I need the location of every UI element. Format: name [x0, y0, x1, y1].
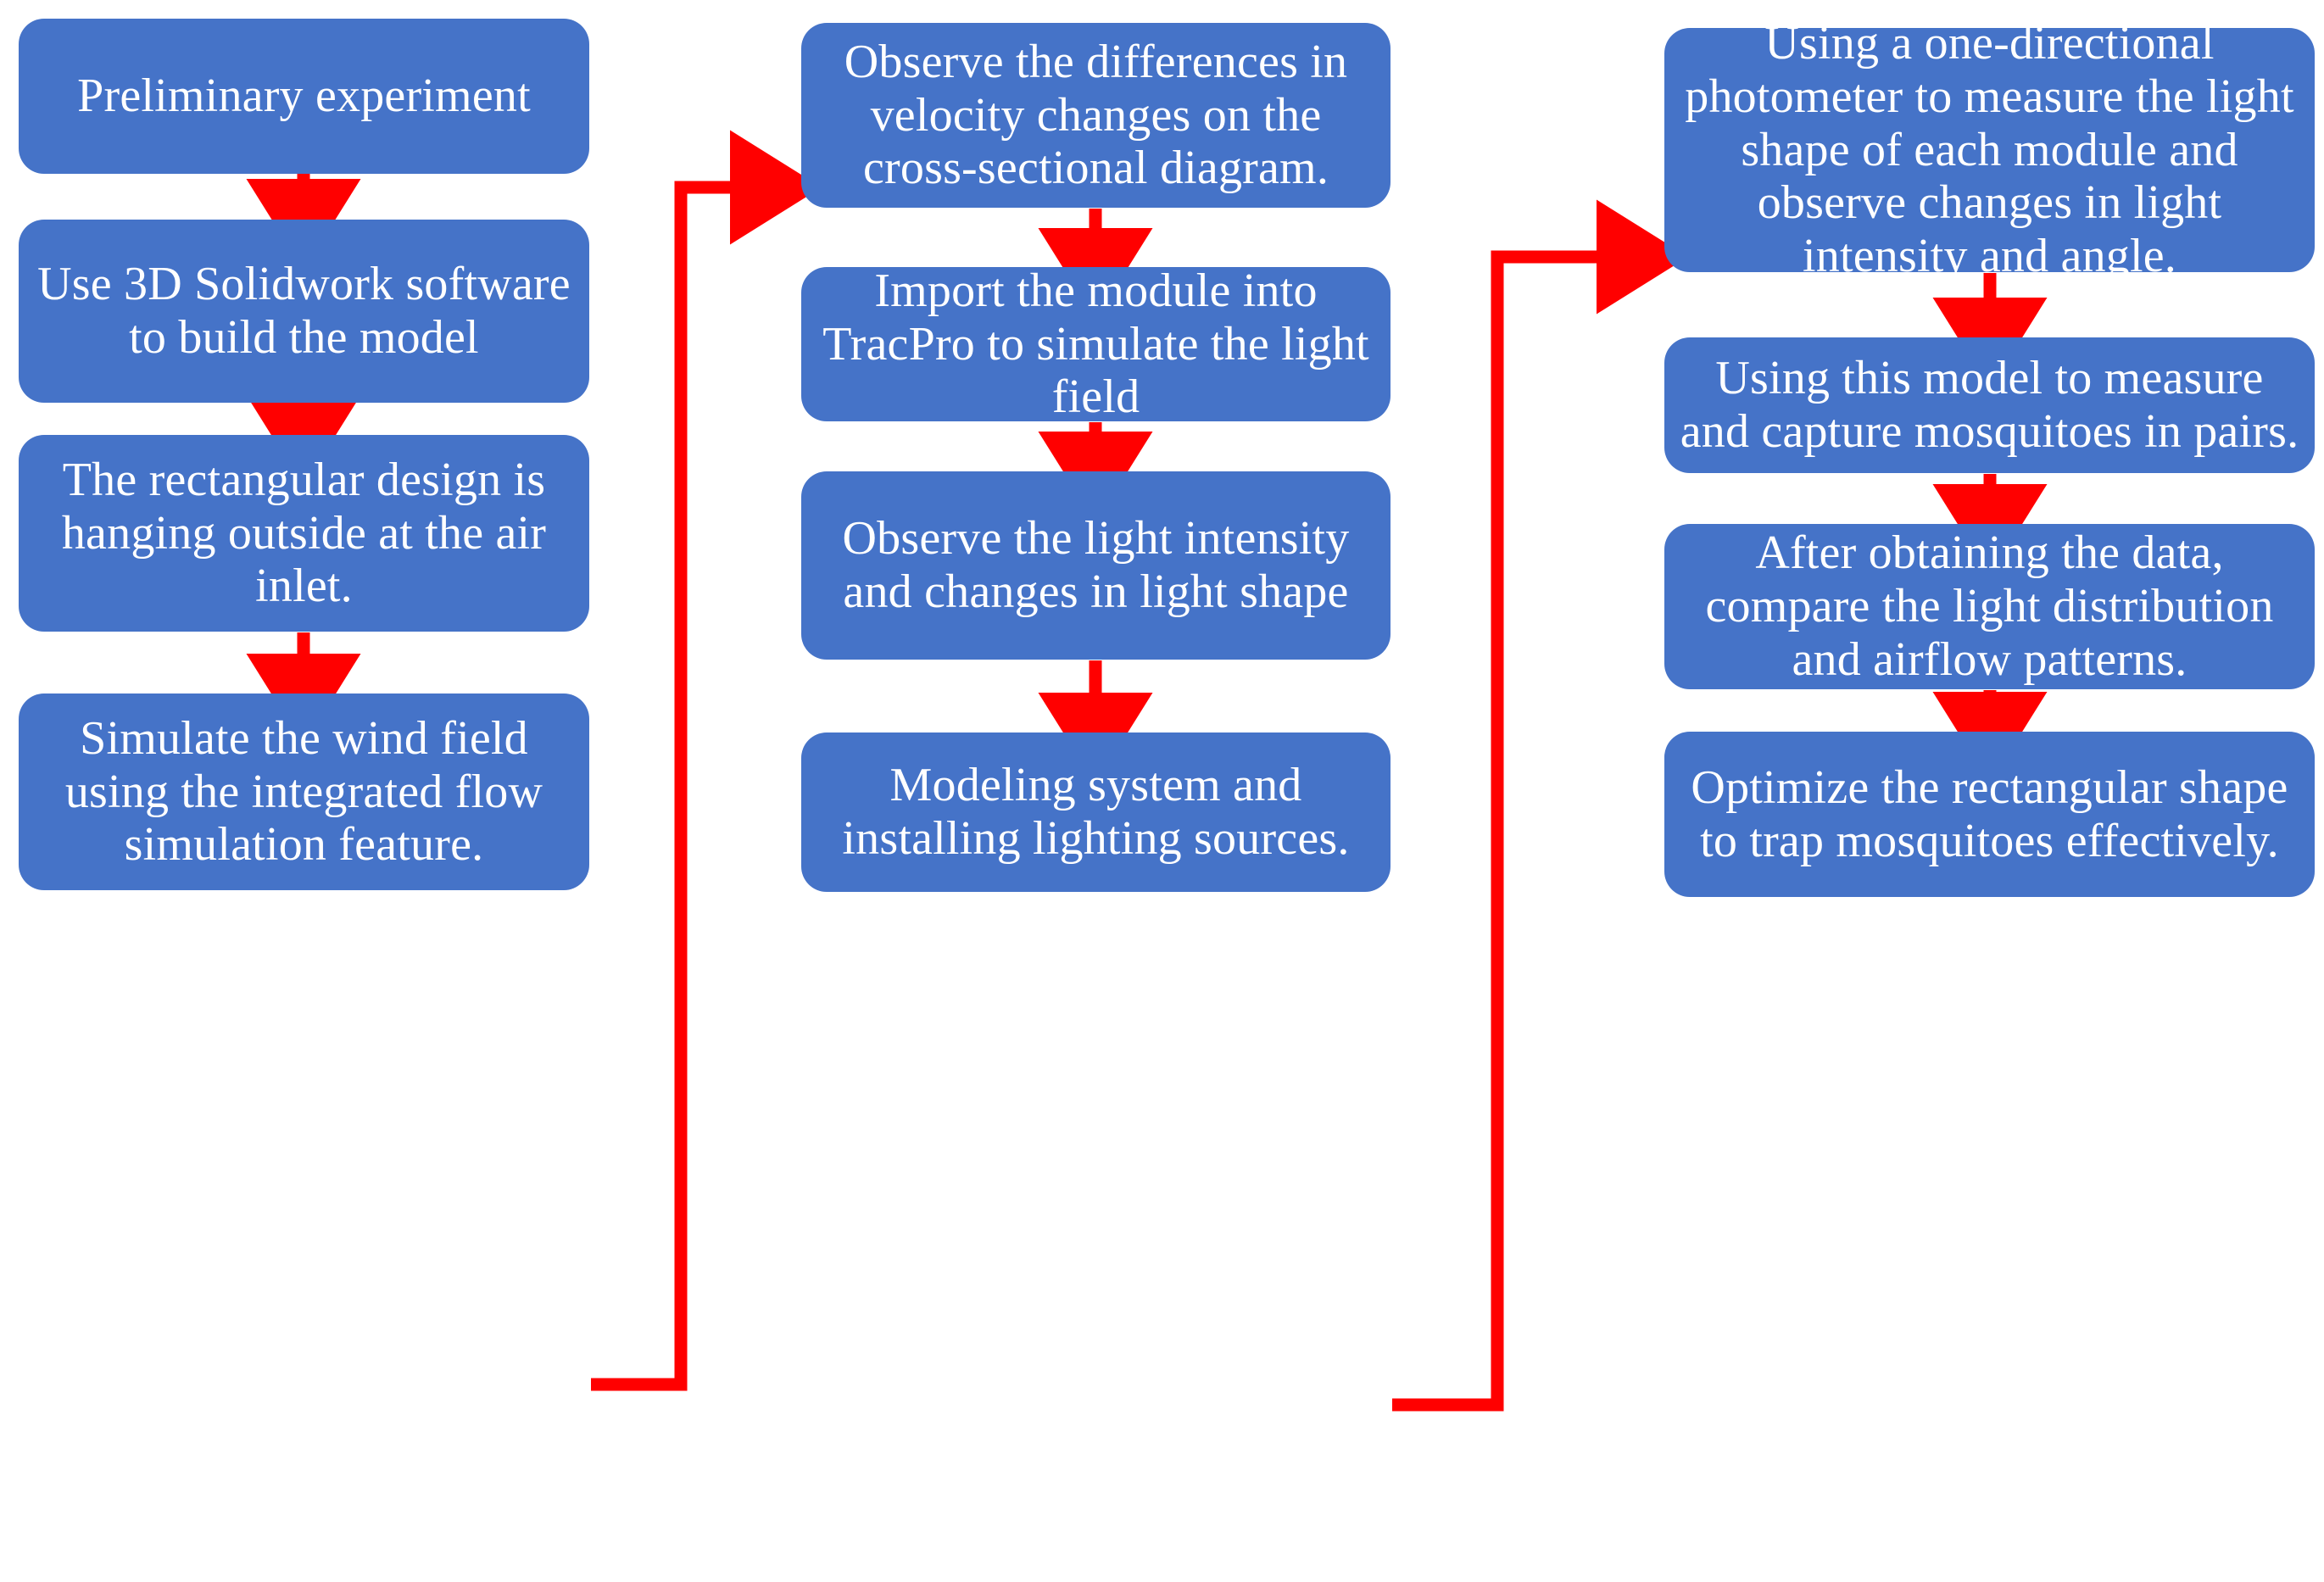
- node-label: Using this model to measure and capture …: [1680, 352, 2299, 458]
- node-modeling-system-lighting[interactable]: Modeling system and installing lighting …: [801, 733, 1390, 892]
- node-compare-light-airflow[interactable]: After obtaining the data, compare the li…: [1664, 524, 2315, 689]
- node-label: Use 3D Solidwork software to build the m…: [34, 258, 574, 364]
- node-label: Import the module into TracPro to simula…: [816, 265, 1375, 424]
- node-label: Modeling system and installing lighting …: [816, 759, 1375, 865]
- node-label: Simulate the wind field using the integr…: [34, 712, 574, 872]
- node-import-module-tracpro[interactable]: Import the module into TracPro to simula…: [801, 267, 1390, 421]
- node-simulate-wind-field[interactable]: Simulate the wind field using the integr…: [19, 694, 589, 890]
- node-rectangular-design-hanging[interactable]: The rectangular design is hanging outsid…: [19, 435, 589, 632]
- edge-m4-r1: [1392, 257, 1630, 1405]
- node-label: Optimize the rectangular shape to trap m…: [1680, 761, 2299, 867]
- node-one-directional-photometer[interactable]: Using a one-directional photometer to me…: [1664, 28, 2315, 272]
- node-preliminary-experiment[interactable]: Preliminary experiment: [19, 19, 589, 174]
- node-label: Observe the light intensity and changes …: [816, 512, 1375, 618]
- node-measure-capture-mosquitoes[interactable]: Using this model to measure and capture …: [1664, 337, 2315, 473]
- node-label: Observe the differences in velocity chan…: [816, 36, 1375, 195]
- node-label: Using a one-directional photometer to me…: [1680, 17, 2299, 283]
- node-label: Preliminary experiment: [34, 70, 574, 123]
- node-label: After obtaining the data, compare the li…: [1680, 526, 2299, 686]
- node-label: The rectangular design is hanging outsid…: [34, 454, 574, 613]
- node-optimize-rectangular-shape[interactable]: Optimize the rectangular shape to trap m…: [1664, 732, 2315, 897]
- node-observe-velocity-differences[interactable]: Observe the differences in velocity chan…: [801, 23, 1390, 208]
- node-observe-light-intensity[interactable]: Observe the light intensity and changes …: [801, 471, 1390, 660]
- edge-l4-m1: [591, 187, 763, 1384]
- node-use-3d-solidwork[interactable]: Use 3D Solidwork software to build the m…: [19, 220, 589, 403]
- flowchart-canvas: Preliminary experiment Use 3D Solidwork …: [0, 0, 2324, 1582]
